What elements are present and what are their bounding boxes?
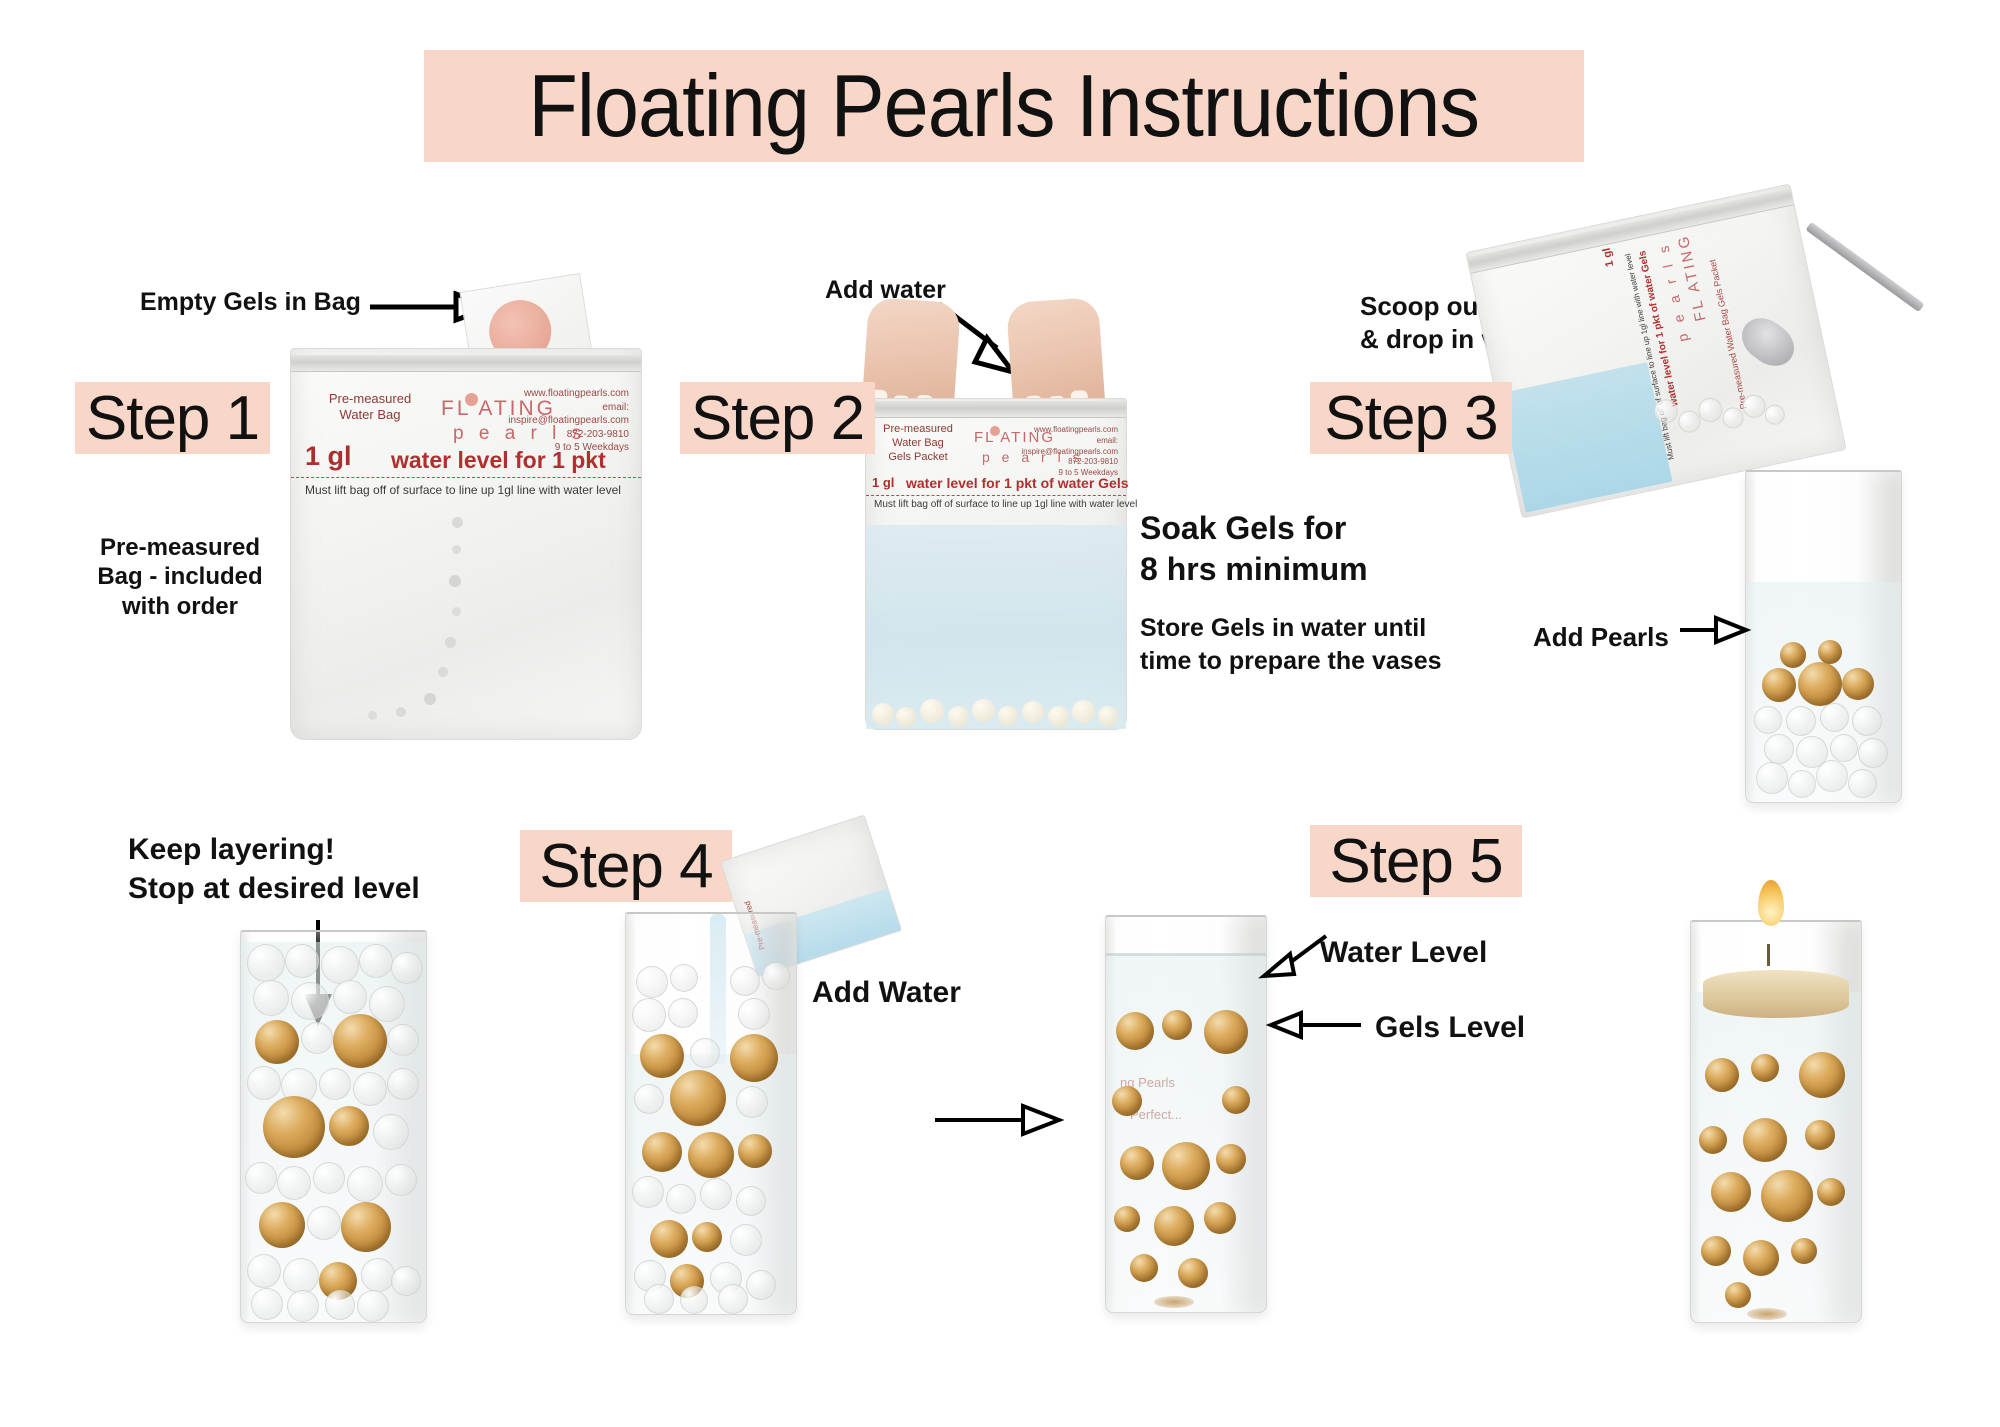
arrow-right-icon <box>1680 615 1752 645</box>
bag-website: www.floatingpearls.com <box>503 387 629 401</box>
soak-line-1: Soak Gels for <box>1140 508 1368 549</box>
bag-water-level-line: water level for 1 pkt <box>391 447 606 474</box>
page-title: Floating Pearls Instructions <box>529 55 1480 157</box>
soak-line-2: 8 hrs minimum <box>1140 549 1368 590</box>
annotation-gels-level: Gels Level <box>1375 1010 1525 1047</box>
keep-layering-line-2: Stop at desired level <box>128 869 420 908</box>
bag-must-lift-note: Must lift bag off of surface to line up … <box>305 483 621 497</box>
bag2-label-premeasured: Pre-measured <box>872 423 964 437</box>
store-line-1: Store Gels in water until <box>1140 612 1442 645</box>
step-badge-3: Step 3 <box>1310 382 1512 454</box>
bag2-email-label: email: <box>1014 436 1118 447</box>
vase-layered <box>240 930 427 1323</box>
step-badge-2: Step 2 <box>680 382 875 454</box>
spoon-icon <box>1805 222 1924 312</box>
bag3-label-water-bag: Water Bag <box>1718 309 1737 352</box>
bag-label-premeasured: Pre-measured <box>315 391 425 407</box>
arrow-left-icon <box>1255 1010 1365 1040</box>
bag3-label-gels-packet: Gels Packet <box>1707 259 1727 309</box>
brand-dot-icon <box>990 426 1000 436</box>
annotation-soak-gels: Soak Gels for 8 hrs minimum <box>1140 508 1368 590</box>
bag2-must-lift-note: Must lift bag off of surface to line up … <box>874 499 1137 510</box>
annotation-empty-gels: Empty Gels in Bag <box>140 287 361 318</box>
bag2-gallon-mark: 1 gl <box>872 475 894 490</box>
bag2-website: www.floatingpearls.com <box>1014 425 1118 436</box>
premeasured-water-bag-step2: Pre-measured Water Bag Gels Packet FL AT… <box>865 398 1127 730</box>
annotation-water-level: Water Level <box>1320 935 1487 972</box>
step-badge-1: Step 1 <box>75 382 270 454</box>
page-title-banner: Floating Pearls Instructions <box>424 50 1584 162</box>
annotation-add-pearls: Add Pearls <box>1533 622 1669 654</box>
annotation-keep-layering: Keep layering! Stop at desired level <box>128 830 420 908</box>
brand-dot-icon <box>465 393 478 406</box>
step-badge-4: Step 4 <box>520 830 732 902</box>
bag-gallon-mark: 1 gl <box>305 441 352 472</box>
bag2-water-level-line: water level for 1 pkt of water Gels <box>906 475 1129 491</box>
bag-email-label: email: <box>503 401 629 415</box>
bag2-label-water-bag: Water Bag <box>872 437 964 451</box>
annotation-store-gels: Store Gels in water until time to prepar… <box>1140 612 1442 677</box>
bag2-label-gels-packet: Gels Packet <box>872 451 964 465</box>
step-badge-5: Step 5 <box>1310 825 1522 897</box>
bag-email: inspire@floatingpearls.com <box>503 414 629 428</box>
vase-step5: ng Pearls Perfect... <box>1105 915 1267 1313</box>
annotation-premeasured-bag: Pre-measured Bag - included with order <box>85 533 275 621</box>
flame-icon <box>1758 880 1784 926</box>
bag-phone: 872-203-9810 <box>503 428 629 442</box>
bag3-gallon-mark: 1 gl <box>1601 247 1617 268</box>
premeasured-line-2: Bag - included <box>85 562 275 591</box>
bag2-email: inspire@floatingpearls.com <box>1014 447 1118 458</box>
annotation-add-water-2: Add Water <box>812 975 961 1012</box>
keep-layering-line-1: Keep layering! <box>128 830 420 869</box>
premeasured-line-1: Pre-measured <box>85 533 275 562</box>
infographic-page: Floating Pearls Instructions Empty Gels … <box>0 0 2000 1427</box>
bag-label-water-bag: Water Bag <box>315 407 425 423</box>
floating-candle <box>1703 970 1849 1018</box>
arrow-left-icon <box>1250 930 1330 980</box>
vase-step3 <box>1745 470 1902 803</box>
vase-step4 <box>625 912 797 1315</box>
store-line-2: time to prepare the vases <box>1140 645 1442 678</box>
vase-final-with-candle: ngPearls <box>1690 920 1862 1323</box>
premeasured-line-3: with order <box>85 592 275 621</box>
premeasured-water-bag-step1: Pre-measured Water Bag FL ATING p e a r … <box>290 348 642 740</box>
arrow-right-icon <box>935 1100 1065 1140</box>
bag2-phone: 872-203-9810 <box>1014 457 1118 468</box>
candle-wick <box>1767 944 1770 966</box>
